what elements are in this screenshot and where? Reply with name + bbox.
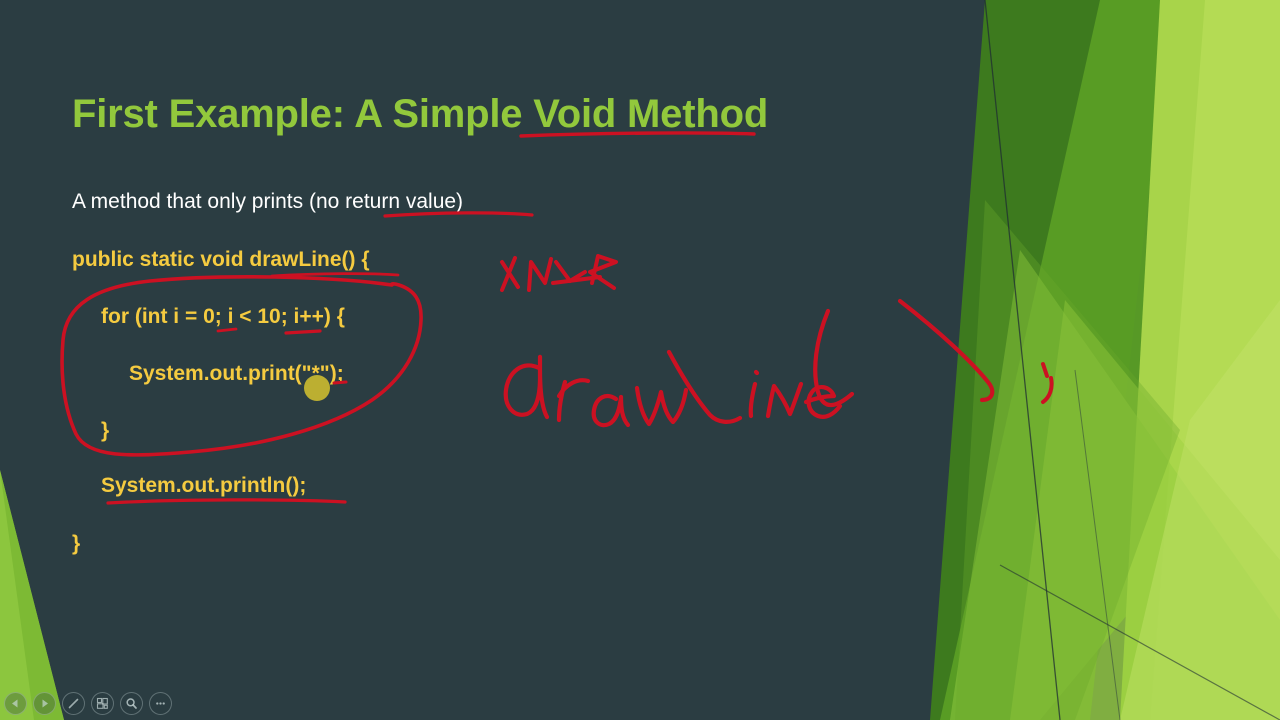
ellipsis-icon bbox=[154, 697, 167, 710]
zoom-button[interactable] bbox=[120, 692, 143, 715]
code-line-6: } bbox=[72, 532, 80, 556]
slide-grid-button[interactable] bbox=[91, 692, 114, 715]
magnifier-icon bbox=[125, 697, 138, 710]
presentation-toolbar bbox=[4, 692, 172, 715]
code-line-5: System.out.println(); bbox=[101, 474, 306, 498]
grid-icon bbox=[96, 697, 109, 710]
slide-subtitle: A method that only prints (no return val… bbox=[72, 190, 463, 214]
code-line-2: for (int i = 0; i < 10; i++) { bbox=[101, 305, 345, 329]
triangle-left-icon bbox=[10, 698, 21, 709]
slide-title: First Example: A Simple Void Method bbox=[72, 92, 768, 137]
more-options-button[interactable] bbox=[149, 692, 172, 715]
pen-cursor-dot bbox=[304, 375, 330, 401]
next-slide-button[interactable] bbox=[33, 692, 56, 715]
pen-icon bbox=[67, 697, 80, 710]
pen-tool-button[interactable] bbox=[62, 692, 85, 715]
code-line-1: public static void drawLine() { bbox=[72, 248, 370, 272]
triangle-right-icon bbox=[39, 698, 50, 709]
previous-slide-button[interactable] bbox=[4, 692, 27, 715]
presentation-slide: First Example: A Simple Void Method A me… bbox=[0, 0, 1280, 720]
code-line-4: } bbox=[101, 419, 109, 443]
